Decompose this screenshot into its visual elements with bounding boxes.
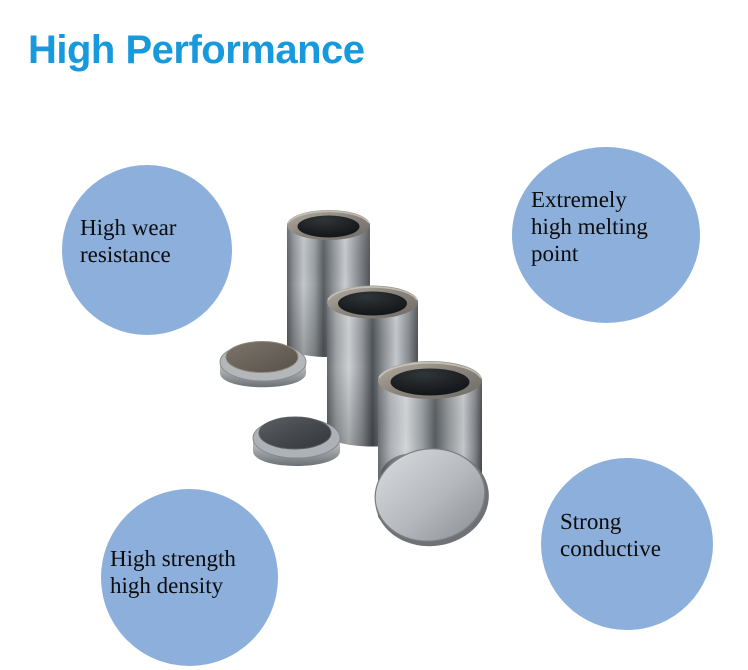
- promo-banner: High Performance: [0, 0, 748, 670]
- feature-label-high-strength-high-density: High strength high density: [110, 545, 310, 599]
- feature-label-strong-conductive: Strong conductive: [560, 508, 740, 562]
- product-photo: [210, 185, 540, 560]
- page-title: High Performance: [28, 30, 365, 70]
- feature-label-high-wear-resistance: High wear resistance: [80, 214, 250, 268]
- lid-lower-left: [253, 417, 340, 466]
- feature-label-extremely-high-melting-point: Extremely high melting point: [531, 186, 731, 267]
- lid-upper-left: [220, 342, 306, 388]
